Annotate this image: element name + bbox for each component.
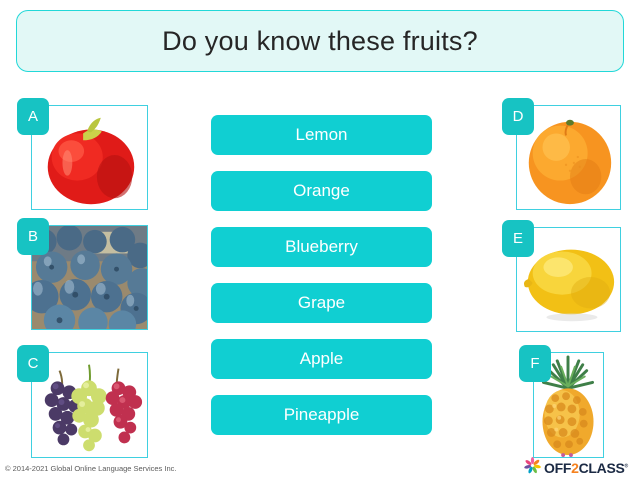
answer-option-apple[interactable]: Apple — [211, 339, 432, 379]
card-badge-d: D — [502, 98, 534, 135]
brand-class: CLASS — [579, 460, 625, 476]
image-card-c[interactable]: C — [31, 352, 148, 458]
brand-two: 2 — [571, 460, 579, 476]
page-title: Do you know these fruits? — [162, 26, 478, 57]
off2class-logo: OFF2CLASS® — [524, 458, 628, 477]
answer-option-lemon[interactable]: Lemon — [211, 115, 432, 155]
card-badge-a: A — [17, 98, 49, 135]
image-card-b[interactable]: B — [31, 225, 148, 330]
card-badge-e: E — [502, 220, 534, 257]
card-badge-f: F — [519, 345, 551, 382]
image-card-a[interactable]: A — [31, 105, 148, 210]
image-card-d[interactable]: D — [516, 105, 621, 210]
brand-trademark: ® — [625, 463, 628, 469]
answer-option-orange[interactable]: Orange — [211, 171, 432, 211]
answer-option-pineapple[interactable]: Pineapple — [211, 395, 432, 435]
title-banner: Do you know these fruits? — [16, 10, 624, 72]
pinwheel-icon — [524, 457, 541, 479]
image-card-e[interactable]: E — [516, 227, 621, 332]
image-card-f[interactable]: F — [533, 352, 604, 458]
card-badge-b: B — [17, 218, 49, 255]
copyright-notice: © 2014-2021 Global Online Language Servi… — [5, 464, 176, 473]
grape-bunches-photo — [32, 353, 147, 457]
blueberries-photo — [32, 226, 147, 329]
red-apple-photo — [32, 106, 147, 209]
answer-option-blueberry[interactable]: Blueberry — [211, 227, 432, 267]
card-badge-c: C — [17, 345, 49, 382]
brand-off: OFF — [544, 460, 571, 476]
answer-option-grape[interactable]: Grape — [211, 283, 432, 323]
brand-wordmark: OFF2CLASS® — [544, 461, 628, 475]
answer-options-list: Lemon Orange Blueberry Grape Apple Pinea… — [211, 115, 432, 435]
